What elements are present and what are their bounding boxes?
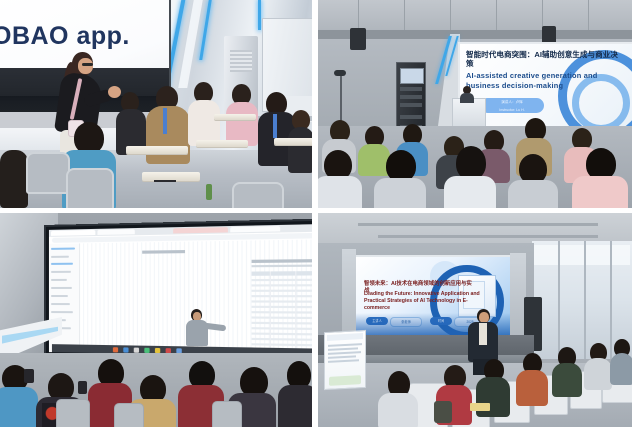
audience-member-foreground — [318, 150, 362, 208]
photo-panel-bottom-left — [0, 213, 312, 427]
audience-member — [552, 347, 582, 397]
smartphone — [24, 369, 34, 383]
slide-title-english-line2: Practical Strategies of AI Technology in… — [364, 298, 468, 311]
slide-title-english-line1: Leading the Future: Innovative Applicati… — [364, 291, 480, 297]
slide-title-english: Leading the Future: Innovative Applicati… — [364, 291, 484, 312]
screen-surface — [49, 224, 312, 358]
photo-panel-bottom-right: 智领未来：AI技术在电商领域的创新应用与实战 Leading the Futur… — [318, 213, 632, 427]
audience-member-foreground — [572, 148, 628, 208]
water-bottle — [206, 184, 212, 200]
presenter-male-pointing — [186, 309, 208, 345]
glasses — [82, 63, 93, 66]
audience-seating — [318, 363, 632, 427]
audience-member — [610, 339, 632, 385]
student — [188, 82, 220, 144]
audience-member — [278, 361, 312, 427]
torso — [460, 93, 474, 103]
rack-monitor — [400, 68, 424, 84]
mic-head — [334, 70, 346, 76]
speaker-at-podium — [460, 86, 474, 102]
notebook — [470, 403, 490, 411]
table-subheading — [252, 264, 312, 267]
table-header-row — [252, 271, 312, 276]
chair — [26, 152, 70, 194]
audience-member — [516, 353, 548, 405]
shirt — [479, 323, 487, 345]
audience-member — [584, 343, 612, 391]
handbag — [434, 401, 452, 423]
stage-side-pillar — [342, 249, 356, 341]
slide-text-taobao: OBAO app. — [0, 22, 130, 51]
photo-panel-top-right: 智能时代电商突围：AI辅助创意生成与商业决策 AI-assisted creat… — [318, 0, 632, 208]
smartphone — [78, 381, 87, 394]
desk — [126, 146, 188, 154]
audience-member-foreground — [374, 150, 426, 208]
chair — [66, 168, 114, 208]
student-foreground — [0, 150, 28, 208]
audience-row — [0, 345, 312, 427]
table-heading — [252, 259, 312, 263]
window-glare — [534, 245, 630, 265]
ceiling-speaker — [350, 28, 366, 50]
photo-panel-top-left: OBAO app. — [0, 0, 312, 208]
pen — [154, 180, 176, 182]
photo-collage: OBAO app. — [0, 0, 632, 427]
audience-member-foreground — [444, 146, 496, 208]
desk — [214, 114, 256, 120]
poster-header — [327, 333, 363, 341]
slide-presenter-name-en: Instructor: Lu H. — [480, 106, 544, 114]
led-accent-strip — [258, 0, 261, 30]
chair — [232, 182, 284, 208]
slide-title-english: AI-assisted creative generation and busi… — [466, 71, 628, 90]
desk — [196, 140, 248, 147]
desk — [274, 138, 312, 145]
audience-member-foreground — [508, 154, 558, 208]
slide-title-chinese: 智能时代电商突围：AI辅助创意生成与商业决策 — [466, 50, 624, 69]
audience-member — [378, 371, 418, 427]
face — [78, 58, 93, 74]
slide-presenter-name: 演讲人：卢辉 — [480, 98, 544, 106]
student — [116, 92, 146, 154]
slide-presenter-badge: 演讲人：卢辉 Instructor: Lu H. — [480, 98, 544, 113]
mic-stand — [340, 74, 342, 124]
